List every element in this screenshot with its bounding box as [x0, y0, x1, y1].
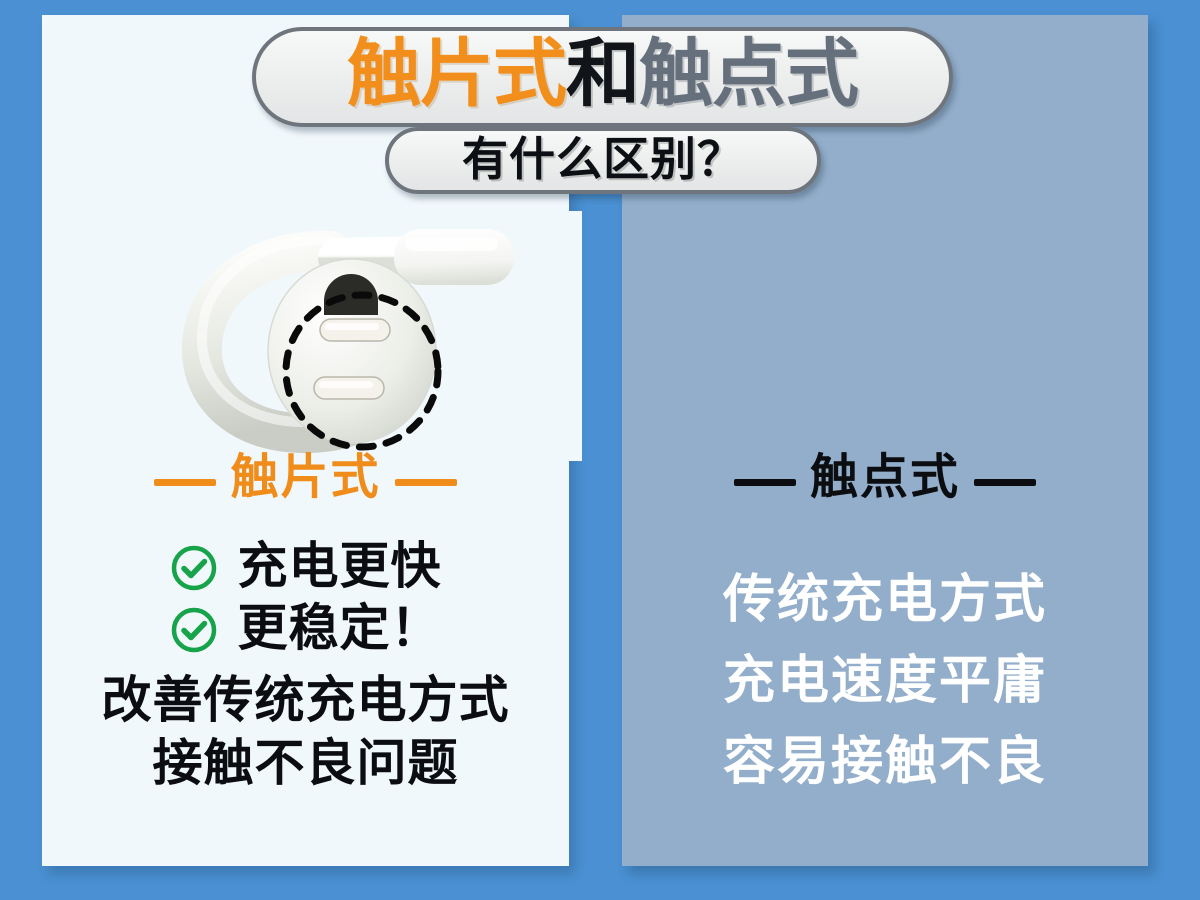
title-part-conjunction: 和 — [566, 37, 639, 111]
right-description-line: 传统充电方式 — [622, 560, 1148, 641]
title-part-contact-point: 触点式 — [639, 37, 858, 111]
dash-right — [974, 479, 1036, 486]
left-product-photo — [162, 211, 582, 461]
list-item: 充电更快 — [42, 543, 569, 593]
page-title: 触片式 和 触点式 — [252, 27, 953, 127]
left-description-line: 改善传统充电方式 — [42, 669, 569, 732]
right-description-line: 容易接触不良 — [622, 722, 1148, 803]
right-label-text: 触点式 — [810, 454, 960, 502]
left-label-text: 触片式 — [230, 454, 380, 502]
right-description-line: 充电速度平庸 — [622, 641, 1148, 722]
list-item-label: 充电更快 — [238, 541, 442, 591]
subtitle-text: 有什么区别？ — [462, 136, 744, 182]
page-subtitle: 有什么区别？ — [385, 127, 821, 194]
left-description-line: 接触不良问题 — [42, 732, 569, 795]
left-description: 改善传统充电方式 接触不良问题 — [42, 669, 569, 795]
left-feature-list: 充电更快 更稳定！ 改善传统充电方式 接触不良问题 — [42, 543, 569, 795]
left-section-label: 触片式 — [42, 458, 569, 506]
dash-left — [734, 479, 796, 486]
poster-canvas: 触片式 充电更快 更稳 — [0, 0, 1200, 900]
title-part-contact-plate: 触片式 — [347, 37, 566, 111]
list-item: 更稳定！ — [42, 605, 569, 655]
check-circle-icon — [170, 544, 218, 592]
check-circle-icon — [170, 606, 218, 654]
list-item-label: 更稳定！ — [238, 603, 442, 653]
dash-right — [395, 479, 457, 486]
right-section-label: 触点式 — [622, 458, 1148, 506]
right-description: 传统充电方式 充电速度平庸 容易接触不良 — [622, 560, 1148, 803]
dash-left — [154, 479, 216, 486]
